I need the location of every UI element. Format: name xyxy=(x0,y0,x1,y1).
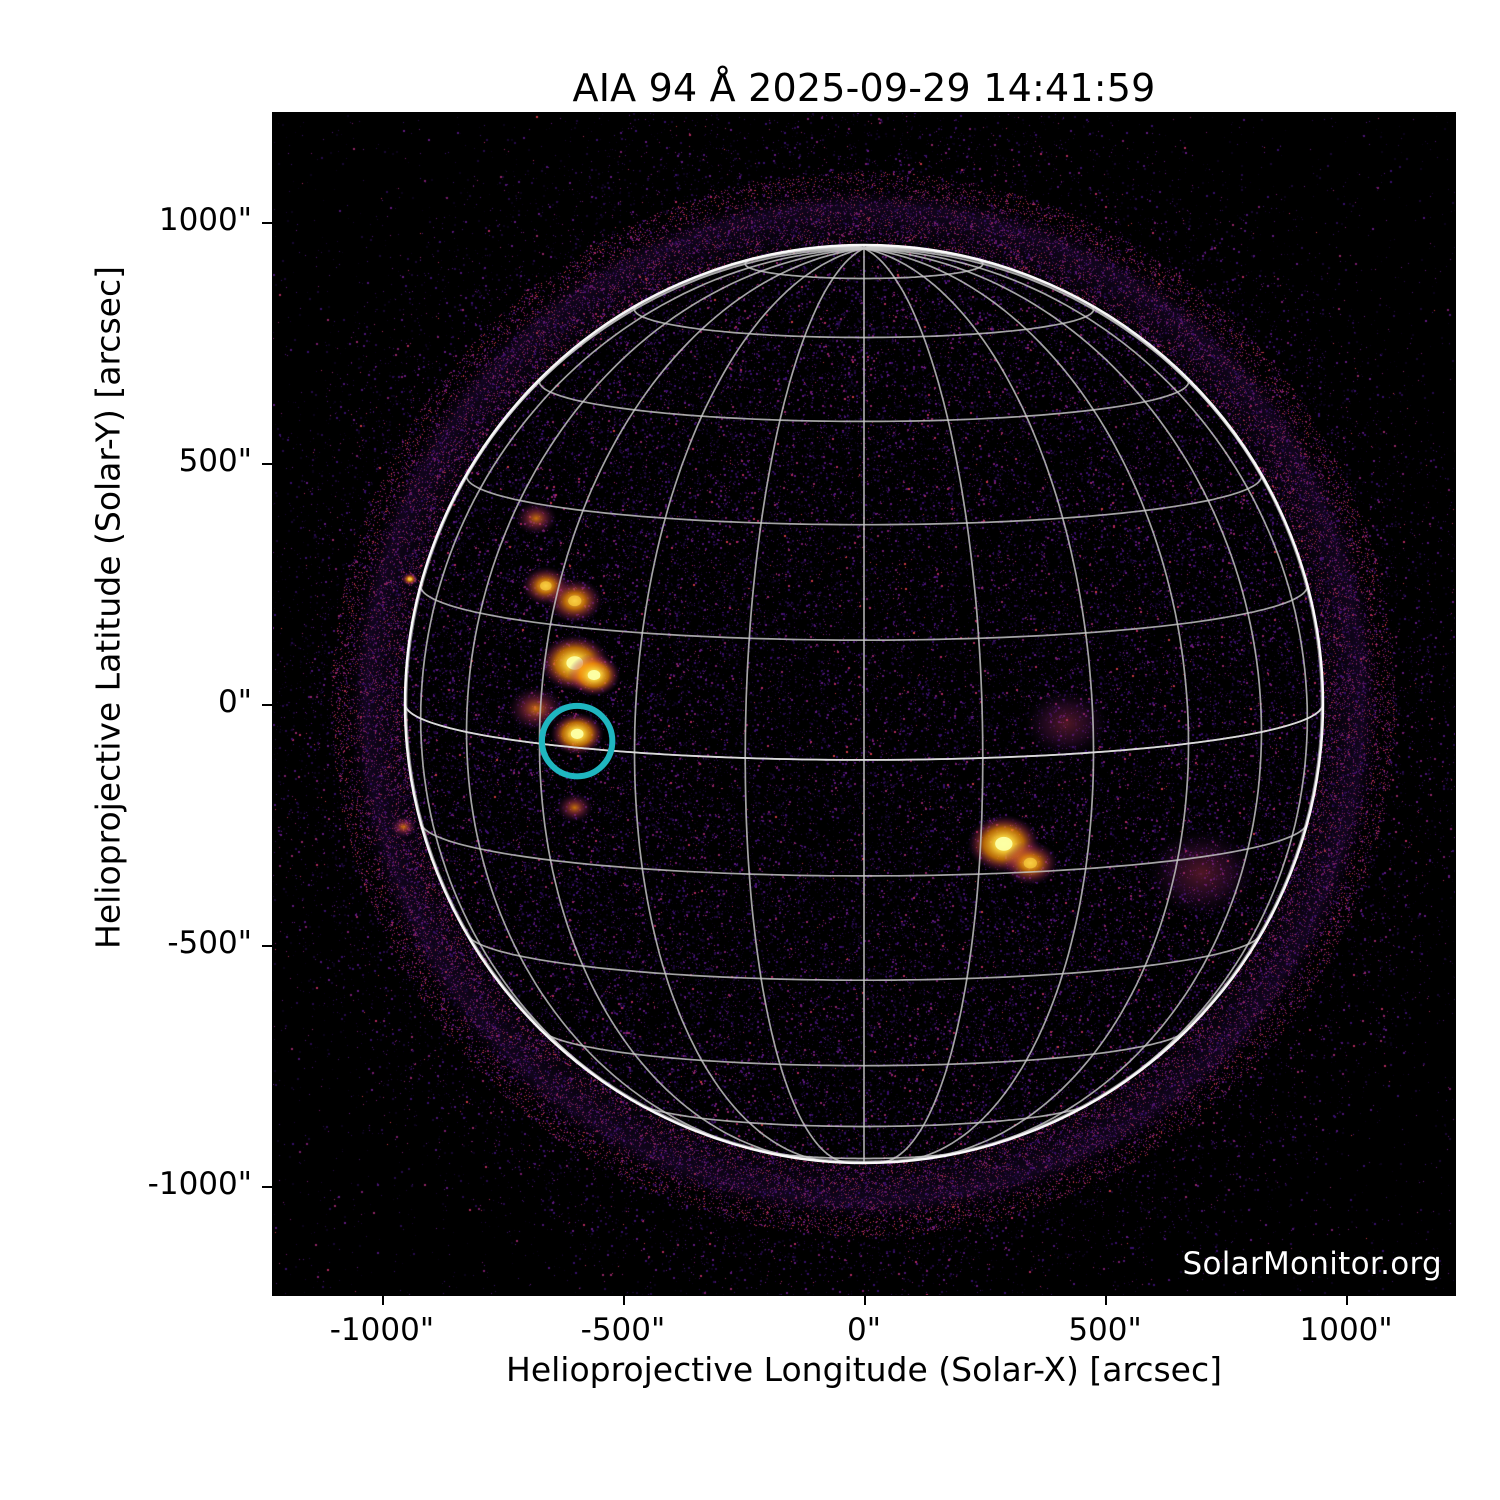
x-axis-label: Helioprojective Longitude (Solar-X) [arc… xyxy=(272,1350,1456,1389)
active-region-core xyxy=(588,670,601,680)
active-region xyxy=(516,502,557,535)
page-title: AIA 94 Å 2025-09-29 14:41:59 xyxy=(272,66,1456,110)
active-region-core xyxy=(1024,858,1037,869)
active-region xyxy=(1147,829,1255,916)
y-tick-label: -1000" xyxy=(0,1166,252,1202)
x-tick-mark xyxy=(864,1296,866,1305)
watermark-label: SolarMonitor.org xyxy=(1183,1246,1443,1282)
y-tick-mark xyxy=(262,704,272,706)
active-region-core xyxy=(571,729,584,739)
x-tick-label: -1000" xyxy=(282,1312,482,1348)
x-tick-label: 0" xyxy=(764,1312,964,1348)
solar-disk-overlay xyxy=(272,112,1456,1296)
y-tick-mark xyxy=(262,463,272,465)
x-tick-label: 500" xyxy=(1005,1312,1205,1348)
x-tick-label: -500" xyxy=(523,1312,723,1348)
y-tick-mark xyxy=(262,945,272,947)
active-region xyxy=(390,816,417,837)
y-tick-mark xyxy=(262,1186,272,1188)
y-tick-mark xyxy=(262,222,272,224)
plot-area[interactable]: SolarMonitor.org xyxy=(272,112,1456,1296)
active-region-core xyxy=(568,596,581,607)
active-region-core xyxy=(540,581,552,590)
x-tick-mark xyxy=(1105,1296,1107,1305)
active-region xyxy=(1024,690,1108,757)
x-tick-mark xyxy=(1346,1296,1348,1305)
y-axis-label: Helioprojective Latitude (Solar-Y) [arcs… xyxy=(89,108,128,1108)
active-region-core xyxy=(408,578,412,581)
x-tick-mark xyxy=(623,1296,625,1305)
solar-image-figure: AIA 94 Å 2025-09-29 14:41:59 xyxy=(0,0,1500,1500)
active-region xyxy=(557,793,593,822)
x-tick-mark xyxy=(382,1296,384,1305)
x-tick-label: 1000" xyxy=(1246,1312,1446,1348)
